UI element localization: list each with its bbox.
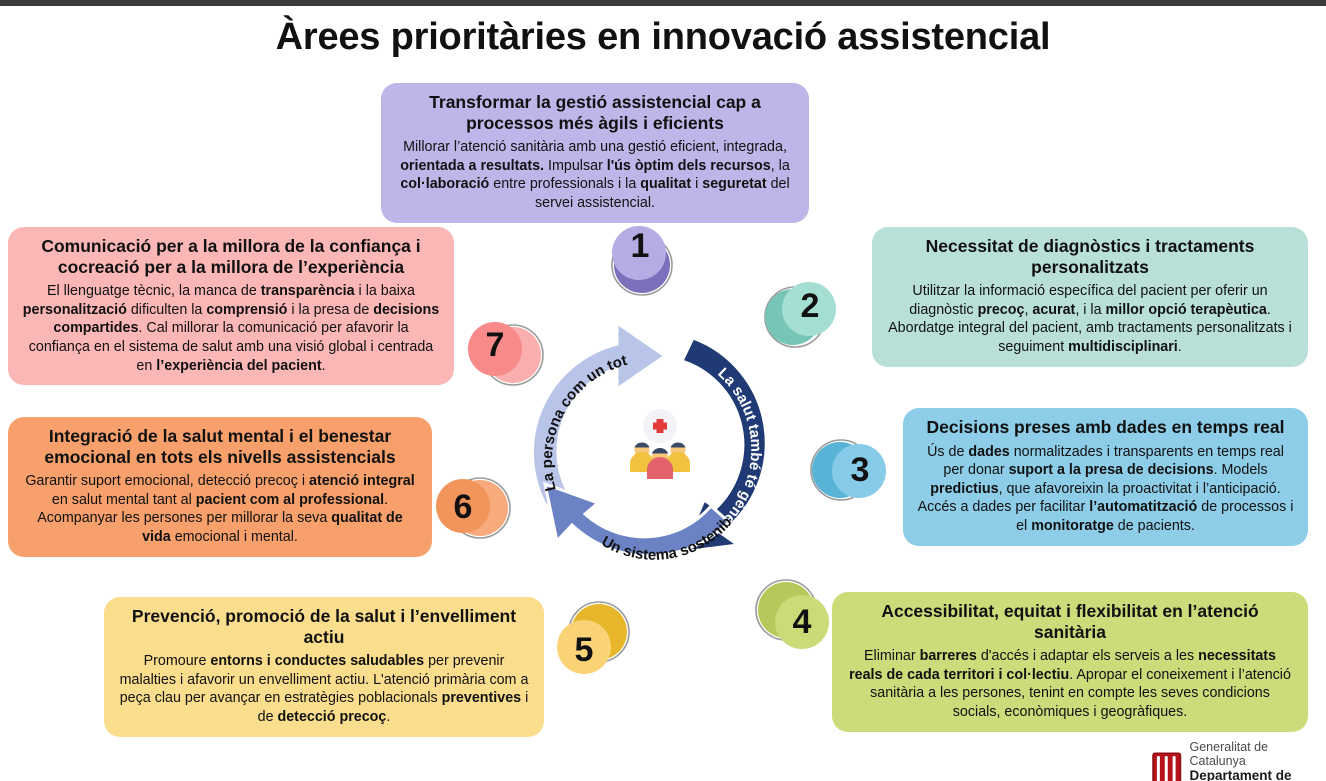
card-title: Necessitat de diagnòstics i tractaments … — [886, 236, 1294, 277]
generalitat-shield-icon — [1152, 752, 1182, 781]
card-comunicacio-cocreacio: Comunicació per a la millora de la confi… — [8, 227, 454, 385]
card-transformar-gestio: Transformar la gestió assistencial cap a… — [381, 83, 809, 223]
card-body: Ús de dades normalitzades i transparents… — [917, 443, 1294, 536]
card-body: Millorar l’atenció sanitària amb una ges… — [395, 138, 795, 212]
card-title: Accessibilitat, equitat i flexibilitat e… — [846, 601, 1294, 642]
card-title: Decisions preses amb dades en temps real — [917, 417, 1294, 438]
badge-5: 5 — [549, 596, 635, 682]
logo-line-1: Generalitat de Catalunya — [1190, 740, 1326, 768]
generalitat-logo: Generalitat de Catalunya Departament de … — [1152, 740, 1326, 781]
card-title: Integració de la salut mental i el benes… — [22, 426, 418, 467]
card-title: Comunicació per a la millora de la confi… — [22, 236, 440, 277]
card-prevencio-promocio: Prevenció, promoció de la salut i l’enve… — [104, 597, 544, 737]
badge-2: 2 — [757, 270, 843, 356]
people-with-medical-cross-icon — [630, 409, 690, 479]
card-diagnostics-tractaments: Necessitat de diagnòstics i tractaments … — [872, 227, 1308, 367]
card-body: Utilitzar la informació específica del p… — [886, 282, 1294, 356]
logo-line-2: Departament de Salut — [1190, 768, 1326, 781]
card-accessibilitat-equitat: Accessibilitat, equitat i flexibilitat e… — [832, 592, 1308, 732]
badge-3: 3 — [805, 425, 891, 511]
badge-number: 2 — [767, 263, 853, 349]
badge-number: 1 — [597, 203, 683, 289]
badge-number: 7 — [452, 302, 538, 388]
card-body: Promoure entorns i conductes saludables … — [118, 652, 530, 726]
card-body: Eliminar barreres d'accés i adaptar els … — [846, 647, 1294, 721]
top-bar — [0, 0, 1326, 6]
card-salut-mental: Integració de la salut mental i el benes… — [8, 417, 432, 557]
badge-6: 6 — [430, 462, 516, 548]
badge-1: 1 — [597, 215, 683, 301]
card-decisions-dades: Decisions preses amb dades en temps real… — [903, 408, 1308, 546]
card-body: Garantir suport emocional, detecció prec… — [22, 472, 418, 546]
card-title: Prevenció, promoció de la salut i l’enve… — [118, 606, 530, 647]
infographic-root: Àrees prioritàries en innovació assisten… — [0, 0, 1326, 781]
page-title: Àrees prioritàries en innovació assisten… — [0, 16, 1326, 59]
badge-number: 6 — [420, 464, 506, 550]
badge-number: 5 — [541, 607, 627, 693]
card-body: El llenguatge tècnic, la manca de transp… — [22, 282, 440, 375]
badge-number: 3 — [817, 427, 903, 513]
badge-4: 4 — [750, 570, 836, 656]
badge-number: 4 — [759, 579, 845, 665]
badge-7: 7 — [462, 308, 548, 394]
card-title: Transformar la gestió assistencial cap a… — [395, 92, 795, 133]
